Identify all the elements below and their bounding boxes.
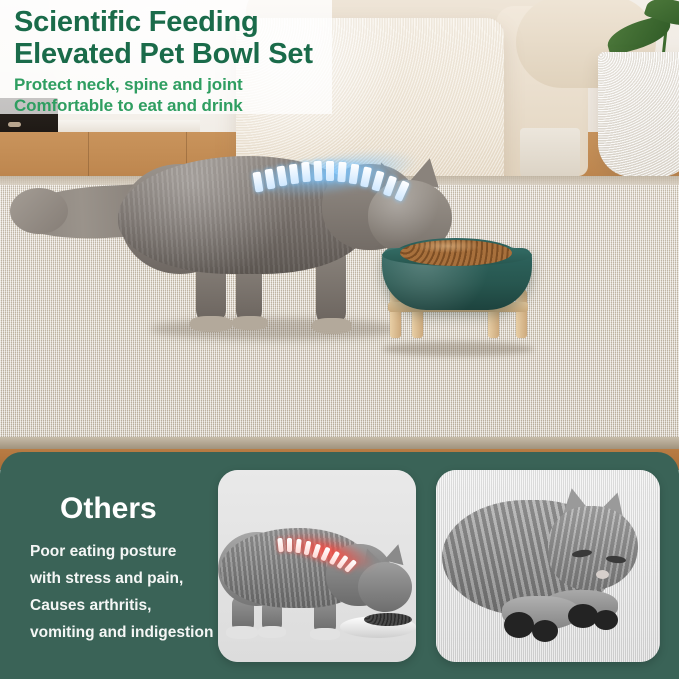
white-planter bbox=[598, 52, 679, 177]
product-advertisement-poster: Scientific Feeding Elevated Pet Bowl Set… bbox=[0, 0, 679, 679]
others-body-line-4: vomiting and indigestion bbox=[30, 619, 220, 646]
comparison-card-bad-posture bbox=[218, 470, 416, 662]
hero-lifestyle-photo: Scientific Feeding Elevated Pet Bowl Set… bbox=[0, 0, 679, 470]
elevated-pet-bowl-product bbox=[378, 238, 548, 358]
pet-food-kibble bbox=[364, 613, 412, 626]
product-shadow bbox=[382, 342, 534, 356]
comparison-card-sleeping-cat bbox=[436, 470, 660, 662]
headline-block: Scientific Feeding Elevated Pet Bowl Set… bbox=[14, 6, 344, 116]
cat-toe-pad bbox=[532, 620, 558, 642]
comparison-panel: Others Poor eating posture with stress a… bbox=[0, 452, 679, 679]
cat-toe-pad bbox=[568, 604, 598, 628]
others-text-block: Others Poor eating posture with stress a… bbox=[30, 492, 220, 646]
cat-paw bbox=[310, 628, 340, 640]
cabinet-knob-icon bbox=[8, 122, 21, 127]
cat-shadow bbox=[150, 318, 400, 340]
others-body-line-3: Causes arthritis, bbox=[30, 592, 220, 619]
title-line-2: Elevated Pet Bowl Set bbox=[14, 38, 344, 70]
others-body: Poor eating posture with stress and pain… bbox=[30, 538, 220, 646]
cat-paw bbox=[258, 626, 286, 638]
others-body-line-2: with stress and pain, bbox=[30, 565, 220, 592]
cat-tail-tip bbox=[10, 188, 68, 234]
healthy-spine-overlay bbox=[250, 150, 420, 204]
subtitle-line-1: Protect neck, spine and joint bbox=[14, 74, 344, 95]
kibble-highlight bbox=[412, 239, 482, 253]
title-line-1: Scientific Feeding bbox=[14, 6, 344, 38]
cat-paw bbox=[190, 316, 232, 332]
others-heading: Others bbox=[60, 492, 220, 526]
subtitle-line-2: Comfortable to eat and drink bbox=[14, 95, 344, 116]
cat-paw bbox=[232, 316, 268, 330]
cat-paw bbox=[312, 318, 352, 334]
cat-head bbox=[548, 506, 638, 590]
cat-toe-pad bbox=[594, 610, 618, 630]
cat-toe-pad bbox=[504, 612, 534, 638]
cat-nose-icon bbox=[596, 570, 609, 579]
strained-spine-overlay bbox=[276, 532, 380, 572]
cat-paw bbox=[226, 626, 258, 639]
others-body-line-1: Poor eating posture bbox=[30, 538, 220, 565]
